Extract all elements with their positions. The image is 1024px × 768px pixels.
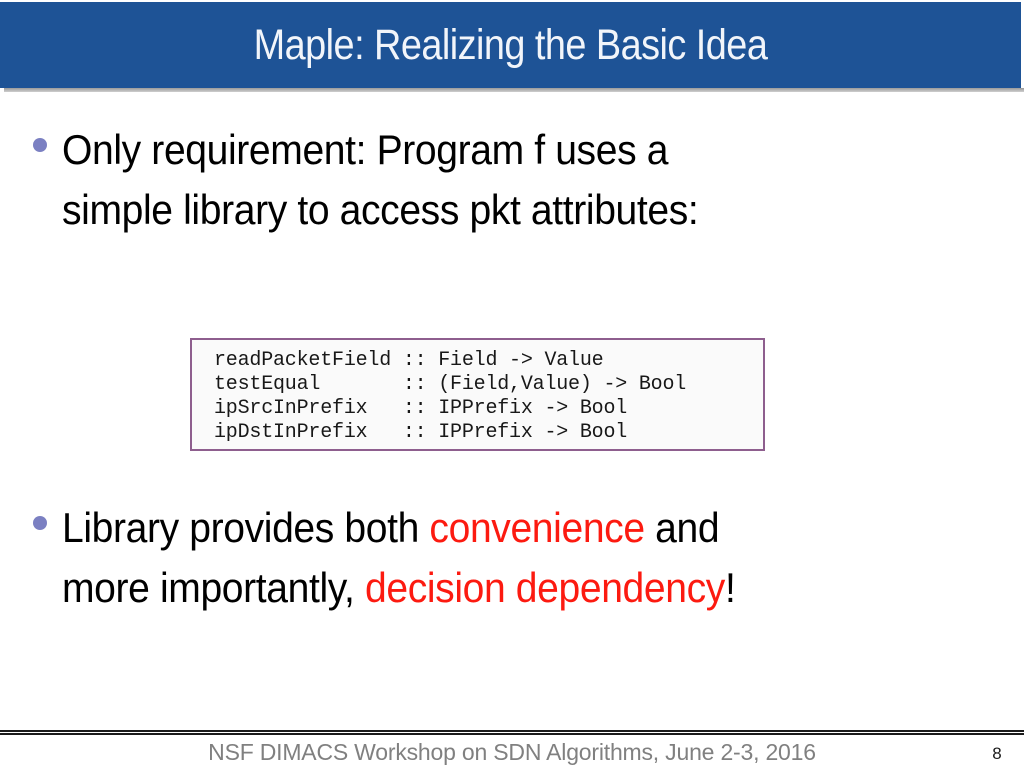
bullet-2-line-2: more importantly, decision dependency! bbox=[62, 558, 1014, 618]
bullet-2-line-1-text-b: and bbox=[645, 504, 720, 551]
bullet-2-line-2-text-a: more importantly, bbox=[62, 564, 365, 611]
page-number: 8 bbox=[985, 744, 1009, 764]
code-line-read-packet-field: readPacketField :: Field -> Value bbox=[214, 349, 763, 373]
code-line-test-equal: testEqual :: (Field,Value) -> Bool bbox=[214, 373, 763, 397]
bullet-2-line-2-highlight: decision dependency bbox=[365, 564, 725, 611]
slide-title-bar: Maple: Realizing the Basic Idea bbox=[0, 2, 1021, 88]
code-line-ip-dst-in-prefix: ipDstInPrefix :: IPPrefix -> Bool bbox=[214, 421, 763, 445]
round-bullet-icon bbox=[33, 516, 47, 530]
code-line-ip-src-in-prefix: ipSrcInPrefix :: IPPrefix -> Bool bbox=[214, 397, 763, 421]
round-bullet-icon bbox=[33, 138, 47, 152]
bullet-item-2: Library provides both convenience and mo… bbox=[0, 498, 1024, 618]
bullet-2-line-1-highlight: convenience bbox=[429, 504, 644, 551]
slide-body: Only requirement: Program f uses a simpl… bbox=[0, 120, 1024, 240]
bullet-1-line-2: simple library to access pkt attributes: bbox=[62, 180, 957, 240]
slide-title: Maple: Realizing the Basic Idea bbox=[61, 2, 959, 88]
api-signature-box: readPacketField :: Field -> Value testEq… bbox=[190, 338, 765, 451]
bullet-item-1: Only requirement: Program f uses a simpl… bbox=[0, 120, 1024, 240]
bullet-2-line-1: Library provides both convenience and bbox=[62, 498, 1014, 558]
footer-divider bbox=[0, 730, 1024, 735]
slide: Maple: Realizing the Basic Idea Only req… bbox=[0, 0, 1024, 768]
bullet-2-line-2-text-b: ! bbox=[725, 564, 735, 611]
footer-caption: NSF DIMACS Workshop on SDN Algorithms, J… bbox=[0, 739, 1024, 766]
bullet-1-line-1: Only requirement: Program f uses a bbox=[62, 120, 957, 180]
bullet-2-line-1-text-a: Library provides both bbox=[62, 504, 429, 551]
